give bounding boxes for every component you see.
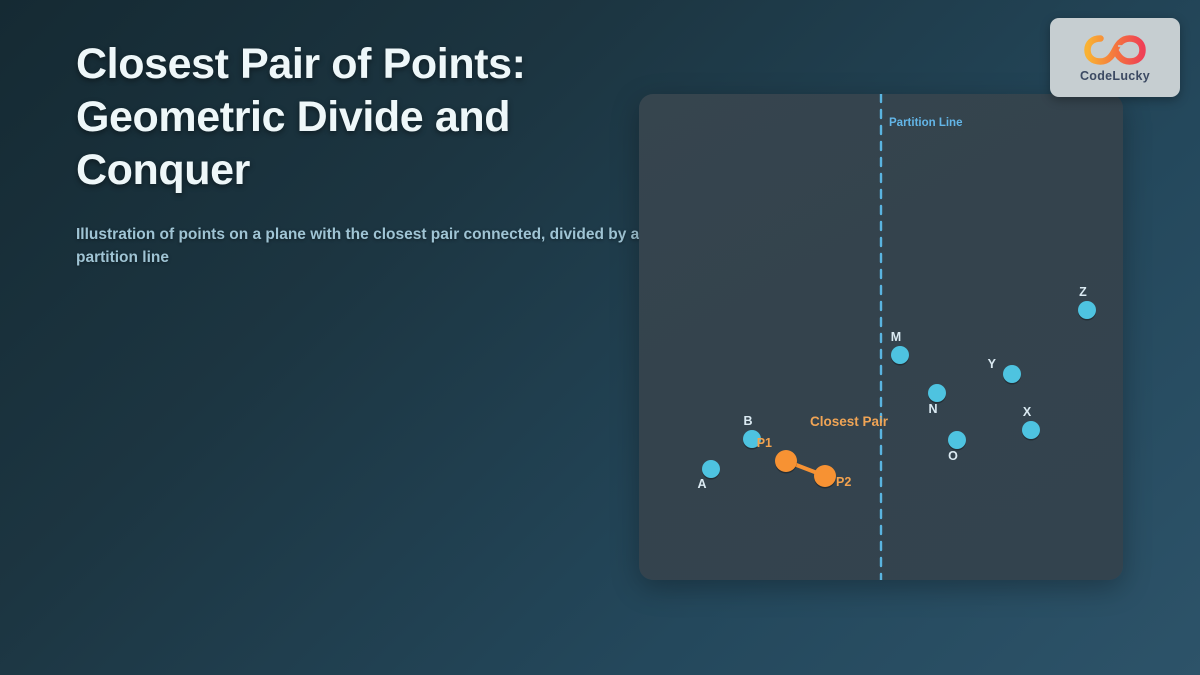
data-point-p2[interactable]	[814, 465, 836, 487]
point-label-x: X	[1023, 405, 1032, 419]
data-point-x[interactable]	[1022, 421, 1040, 439]
illustration-panel: ABMNOXYZP1P2 Partition LineClosest Pair	[639, 94, 1123, 580]
annotation-group: Partition LineClosest Pair	[810, 117, 963, 429]
point-label-p2: P2	[836, 475, 851, 489]
point-label-a: A	[697, 477, 706, 491]
data-point-m[interactable]	[891, 346, 909, 364]
point-label-b: B	[743, 414, 752, 428]
point-label-p1: P1	[757, 436, 772, 450]
page-title: Closest Pair of Points: Geometric Divide…	[76, 38, 651, 197]
point-label-z: Z	[1079, 285, 1087, 299]
point-label-m: M	[891, 330, 901, 344]
page-subtitle: Illustration of points on a plane with t…	[76, 223, 651, 269]
scatter-plot: ABMNOXYZP1P2 Partition LineClosest Pair	[639, 94, 1123, 580]
points-group: ABMNOXYZP1P2	[697, 285, 1096, 491]
point-label-o: O	[948, 449, 958, 463]
codelucky-logo-badge: CodeLucky	[1050, 18, 1180, 97]
slide-root: Closest Pair of Points: Geometric Divide…	[0, 0, 1200, 675]
point-label-n: N	[928, 402, 937, 416]
partition-line-label: Partition Line	[889, 117, 962, 129]
data-point-y[interactable]	[1003, 365, 1021, 383]
data-point-o[interactable]	[948, 431, 966, 449]
data-point-a[interactable]	[702, 460, 720, 478]
title-block: Closest Pair of Points: Geometric Divide…	[76, 38, 651, 269]
data-point-n[interactable]	[928, 384, 946, 402]
logo-wordmark: CodeLucky	[1080, 69, 1150, 83]
point-label-y: Y	[988, 357, 997, 371]
closest-pair-label: Closest Pair	[810, 414, 889, 429]
infinity-icon	[1084, 33, 1146, 67]
data-point-z[interactable]	[1078, 301, 1096, 319]
data-point-p1[interactable]	[775, 450, 797, 472]
